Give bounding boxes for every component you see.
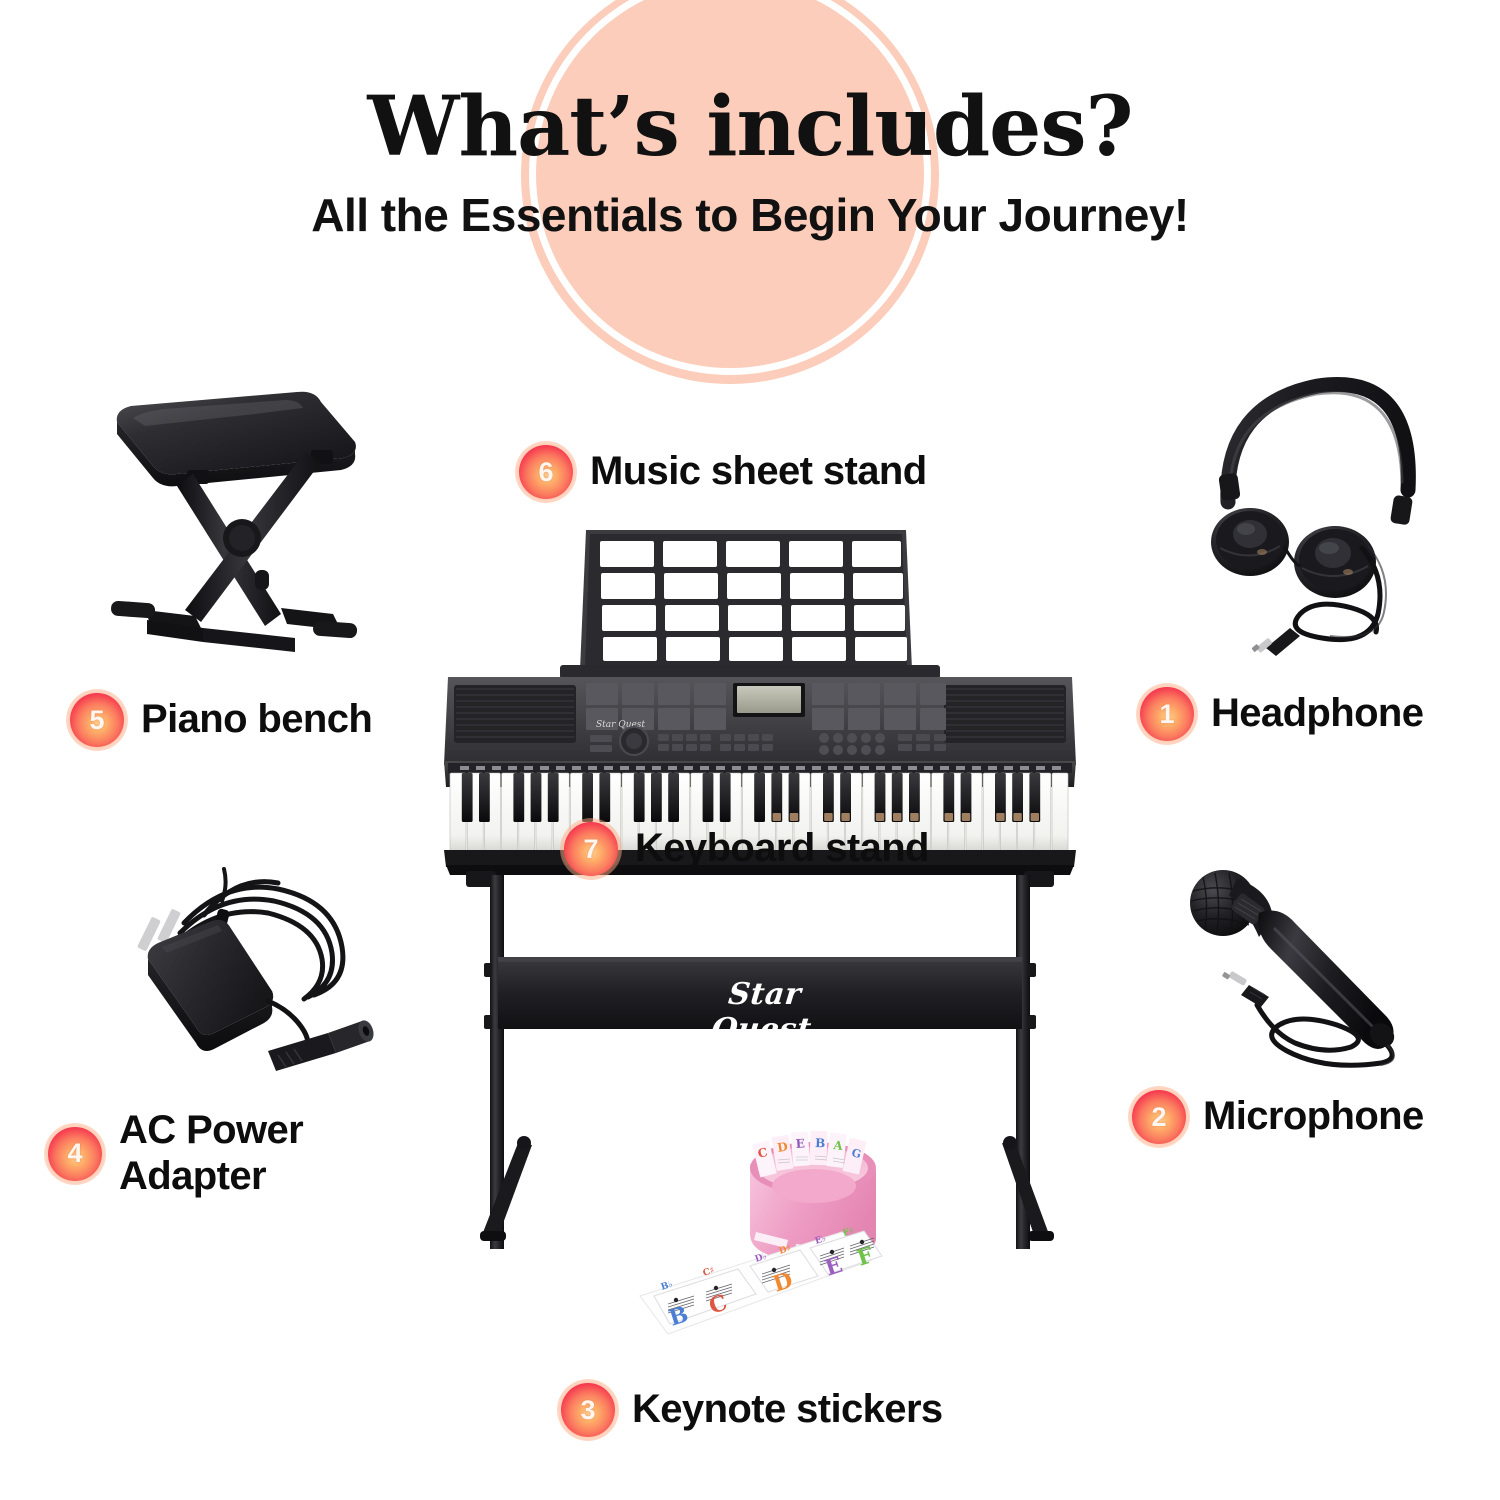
svg-text:B: B — [815, 1136, 826, 1150]
keynote-stickers-image: C D E B A G — [628, 1128, 918, 1373]
callout-keynote-stickers[interactable]: 3 Keynote stickers — [557, 1379, 943, 1441]
callout-label: Headphone — [1211, 691, 1423, 737]
callout-label: AC Power Adapter — [119, 1108, 303, 1199]
microphone-image — [1175, 855, 1455, 1085]
callout-number-badge: 2 — [1132, 1090, 1186, 1144]
callout-number-badge: 4 — [48, 1127, 102, 1181]
badge-halo: 4 — [44, 1123, 106, 1185]
badge-halo: 7 — [560, 818, 622, 880]
callout-label: Piano bench — [141, 697, 372, 743]
callout-music-sheet-stand[interactable]: 6 Music sheet stand — [515, 441, 927, 503]
callout-label: Microphone — [1203, 1094, 1424, 1140]
music-sheet-stand-part — [580, 530, 912, 670]
callout-number-badge: 6 — [519, 445, 573, 499]
callout-keyboard-stand[interactable]: 7 Keyboard stand — [560, 818, 929, 880]
ac-power-adapter-image — [118, 855, 398, 1090]
infographic-canvas: What’s includes? All the Essentials to B… — [0, 0, 1500, 1500]
callout-number-badge: 1 — [1140, 687, 1194, 741]
svg-text:D: D — [776, 1140, 788, 1155]
badge-halo: 1 — [1136, 683, 1198, 745]
headphones-image — [1180, 370, 1480, 670]
callout-label: Keynote stickers — [632, 1387, 943, 1433]
page-title: What’s includes? — [0, 86, 1500, 168]
callout-label: Keyboard stand — [635, 826, 929, 872]
svg-text:E: E — [795, 1136, 805, 1151]
callout-headphone[interactable]: 1 Headphone — [1136, 683, 1423, 745]
keyboard-body: Star Quest — [444, 665, 1076, 787]
callout-microphone[interactable]: 2 Microphone — [1128, 1086, 1424, 1148]
callout-ac-power-adapter[interactable]: 4 AC Power Adapter — [44, 1108, 303, 1199]
page-subtitle: All the Essentials to Begin Your Journey… — [0, 188, 1500, 242]
badge-halo: 6 — [515, 441, 577, 503]
badge-halo: 5 — [66, 689, 128, 751]
callout-label: Music sheet stand — [590, 449, 927, 495]
piano-bench-image — [85, 370, 385, 670]
callout-piano-bench[interactable]: 5 Piano bench — [66, 689, 372, 751]
sticker-panel-b-c: B♭ C♯ B C — [654, 1266, 756, 1332]
callout-number-badge: 5 — [70, 693, 124, 747]
callout-number-badge: 7 — [564, 822, 618, 876]
badge-halo: 3 — [557, 1379, 619, 1441]
callout-number-badge: 3 — [561, 1383, 615, 1437]
badge-halo: 2 — [1128, 1086, 1190, 1148]
